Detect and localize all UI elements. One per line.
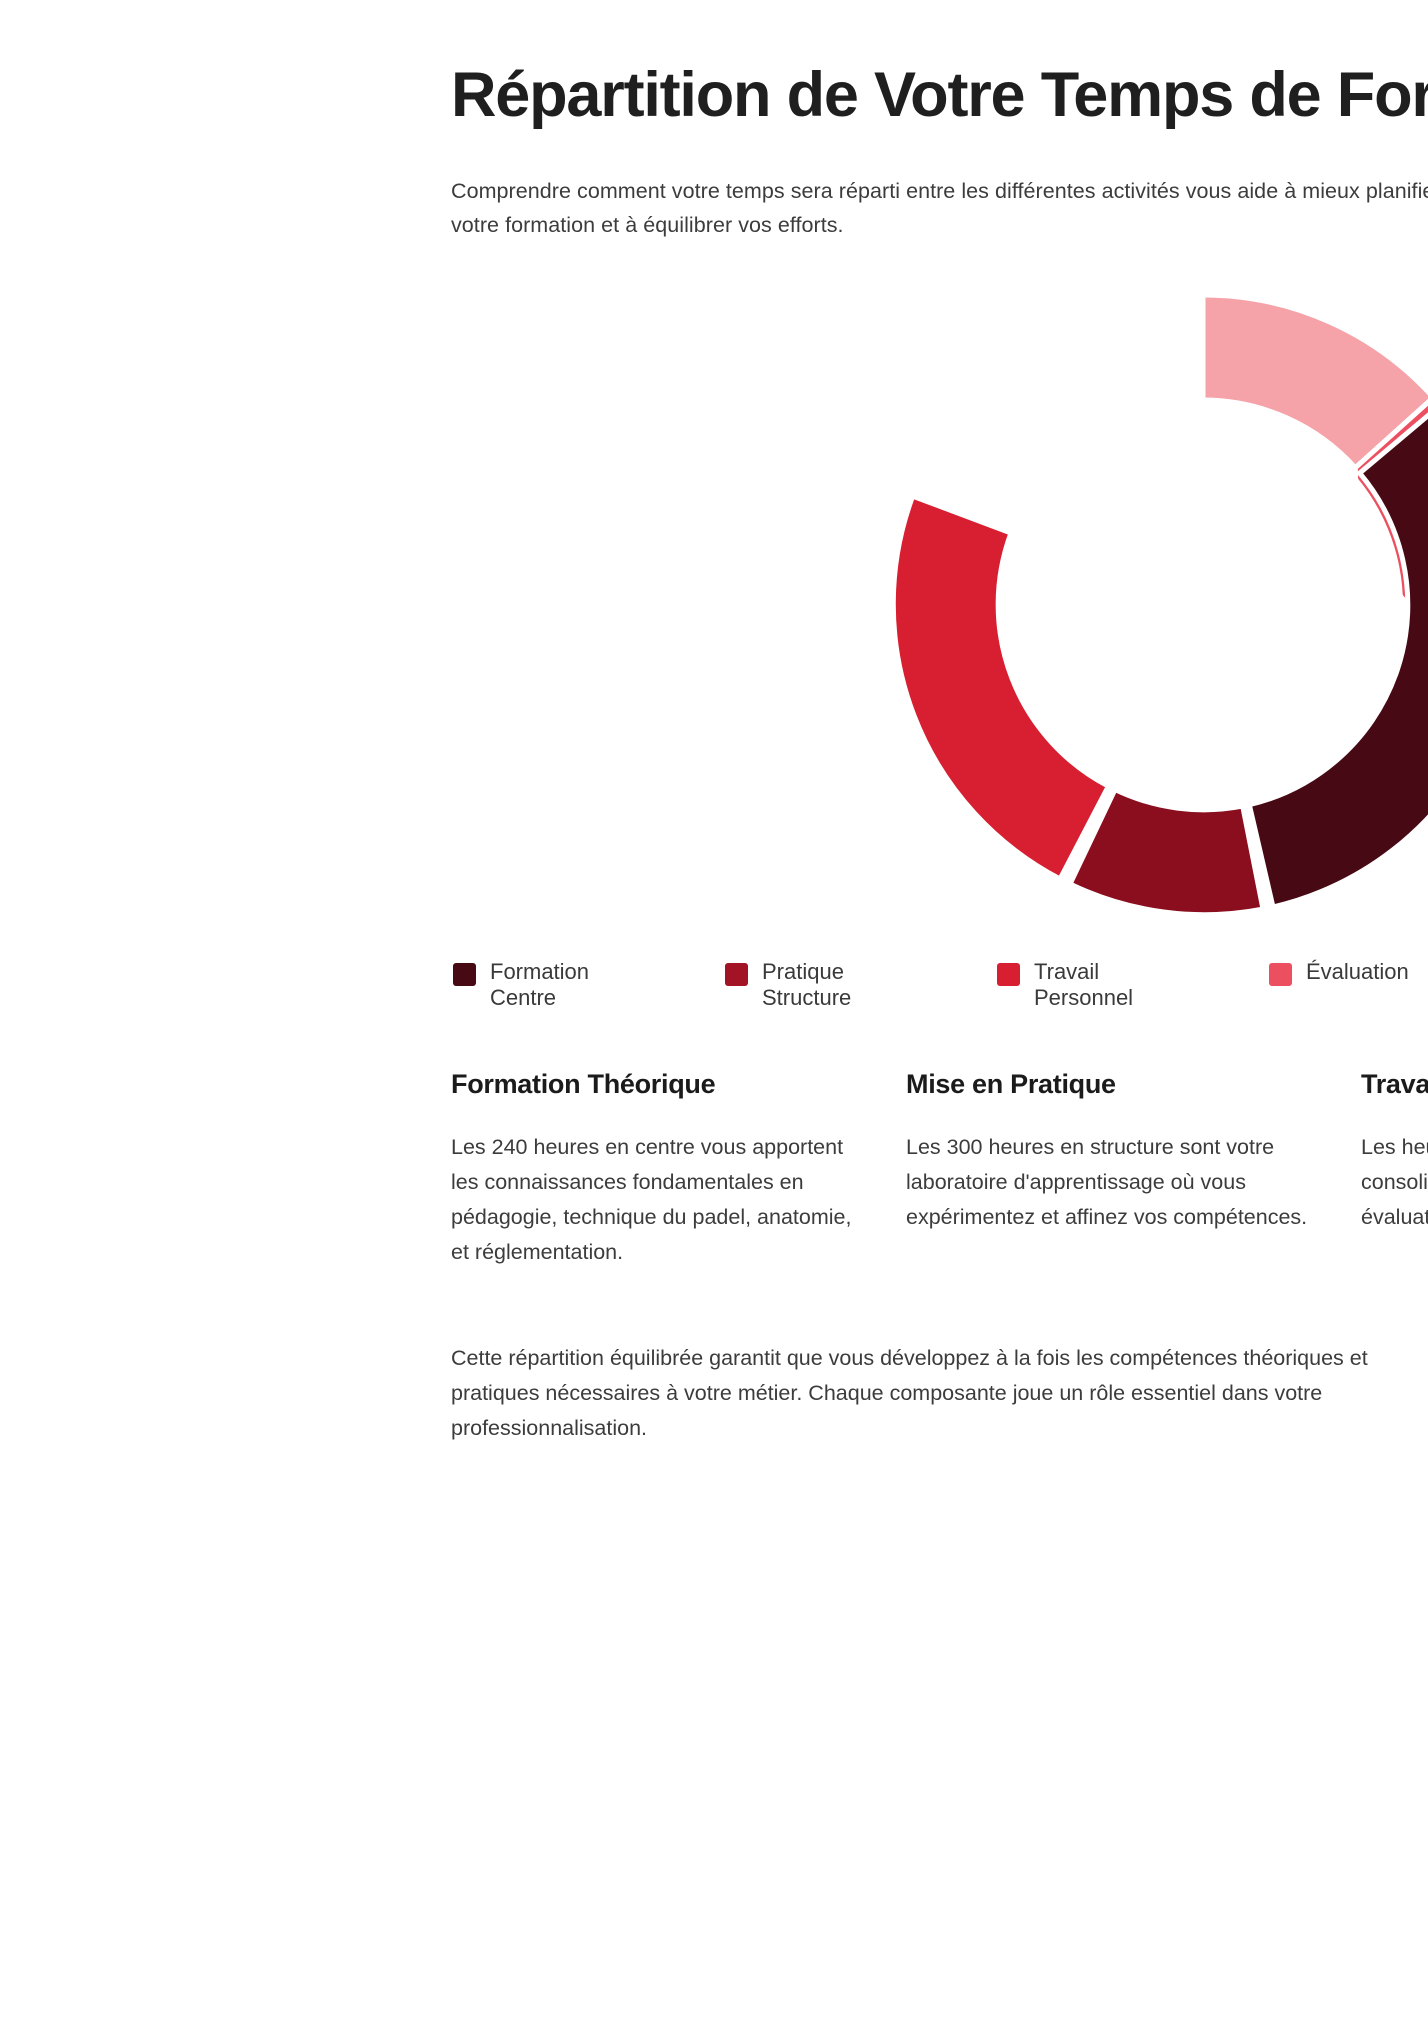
legend-label-line2: Personnel (1034, 985, 1133, 1010)
card-travail-personnel: Travail Personnel Les heures de travail … (1361, 1069, 1428, 1269)
chart-area (451, 285, 1428, 975)
card-title: Travail Personnel (1361, 1069, 1428, 1100)
donut-chart-svg (883, 285, 1428, 925)
legend-label-line2: Structure (762, 985, 851, 1010)
closing-paragraph: Cette répartition équilibrée garantit qu… (451, 1269, 1428, 1445)
page-title: Répartition de Votre Temps de Formation (451, 0, 1428, 131)
card-title: Mise en Pratique (906, 1069, 1315, 1100)
info-cards: Formation Théorique Les 240 heures en ce… (451, 1069, 1428, 1269)
donut-chart (883, 285, 1428, 925)
legend-label-line2: Centre (490, 985, 556, 1010)
card-formation-theorique: Formation Théorique Les 240 heures en ce… (451, 1069, 906, 1269)
content-column: Répartition de Votre Temps de Formation … (451, 0, 1428, 1446)
page-root: Répartition de Votre Temps de Formation … (0, 0, 1428, 2018)
card-body: Les heures de travail personnel consolid… (1361, 1130, 1428, 1234)
card-mise-en-pratique: Mise en Pratique Les 300 heures en struc… (906, 1069, 1361, 1269)
card-title: Formation Théorique (451, 1069, 860, 1100)
card-body: Les 240 heures en centre vous apportent … (451, 1130, 860, 1269)
card-body: Les 300 heures en structure sont votre l… (906, 1130, 1315, 1234)
donut-hole (1003, 405, 1403, 805)
page-subtitle: Comprendre comment votre temps sera répa… (451, 131, 1428, 244)
